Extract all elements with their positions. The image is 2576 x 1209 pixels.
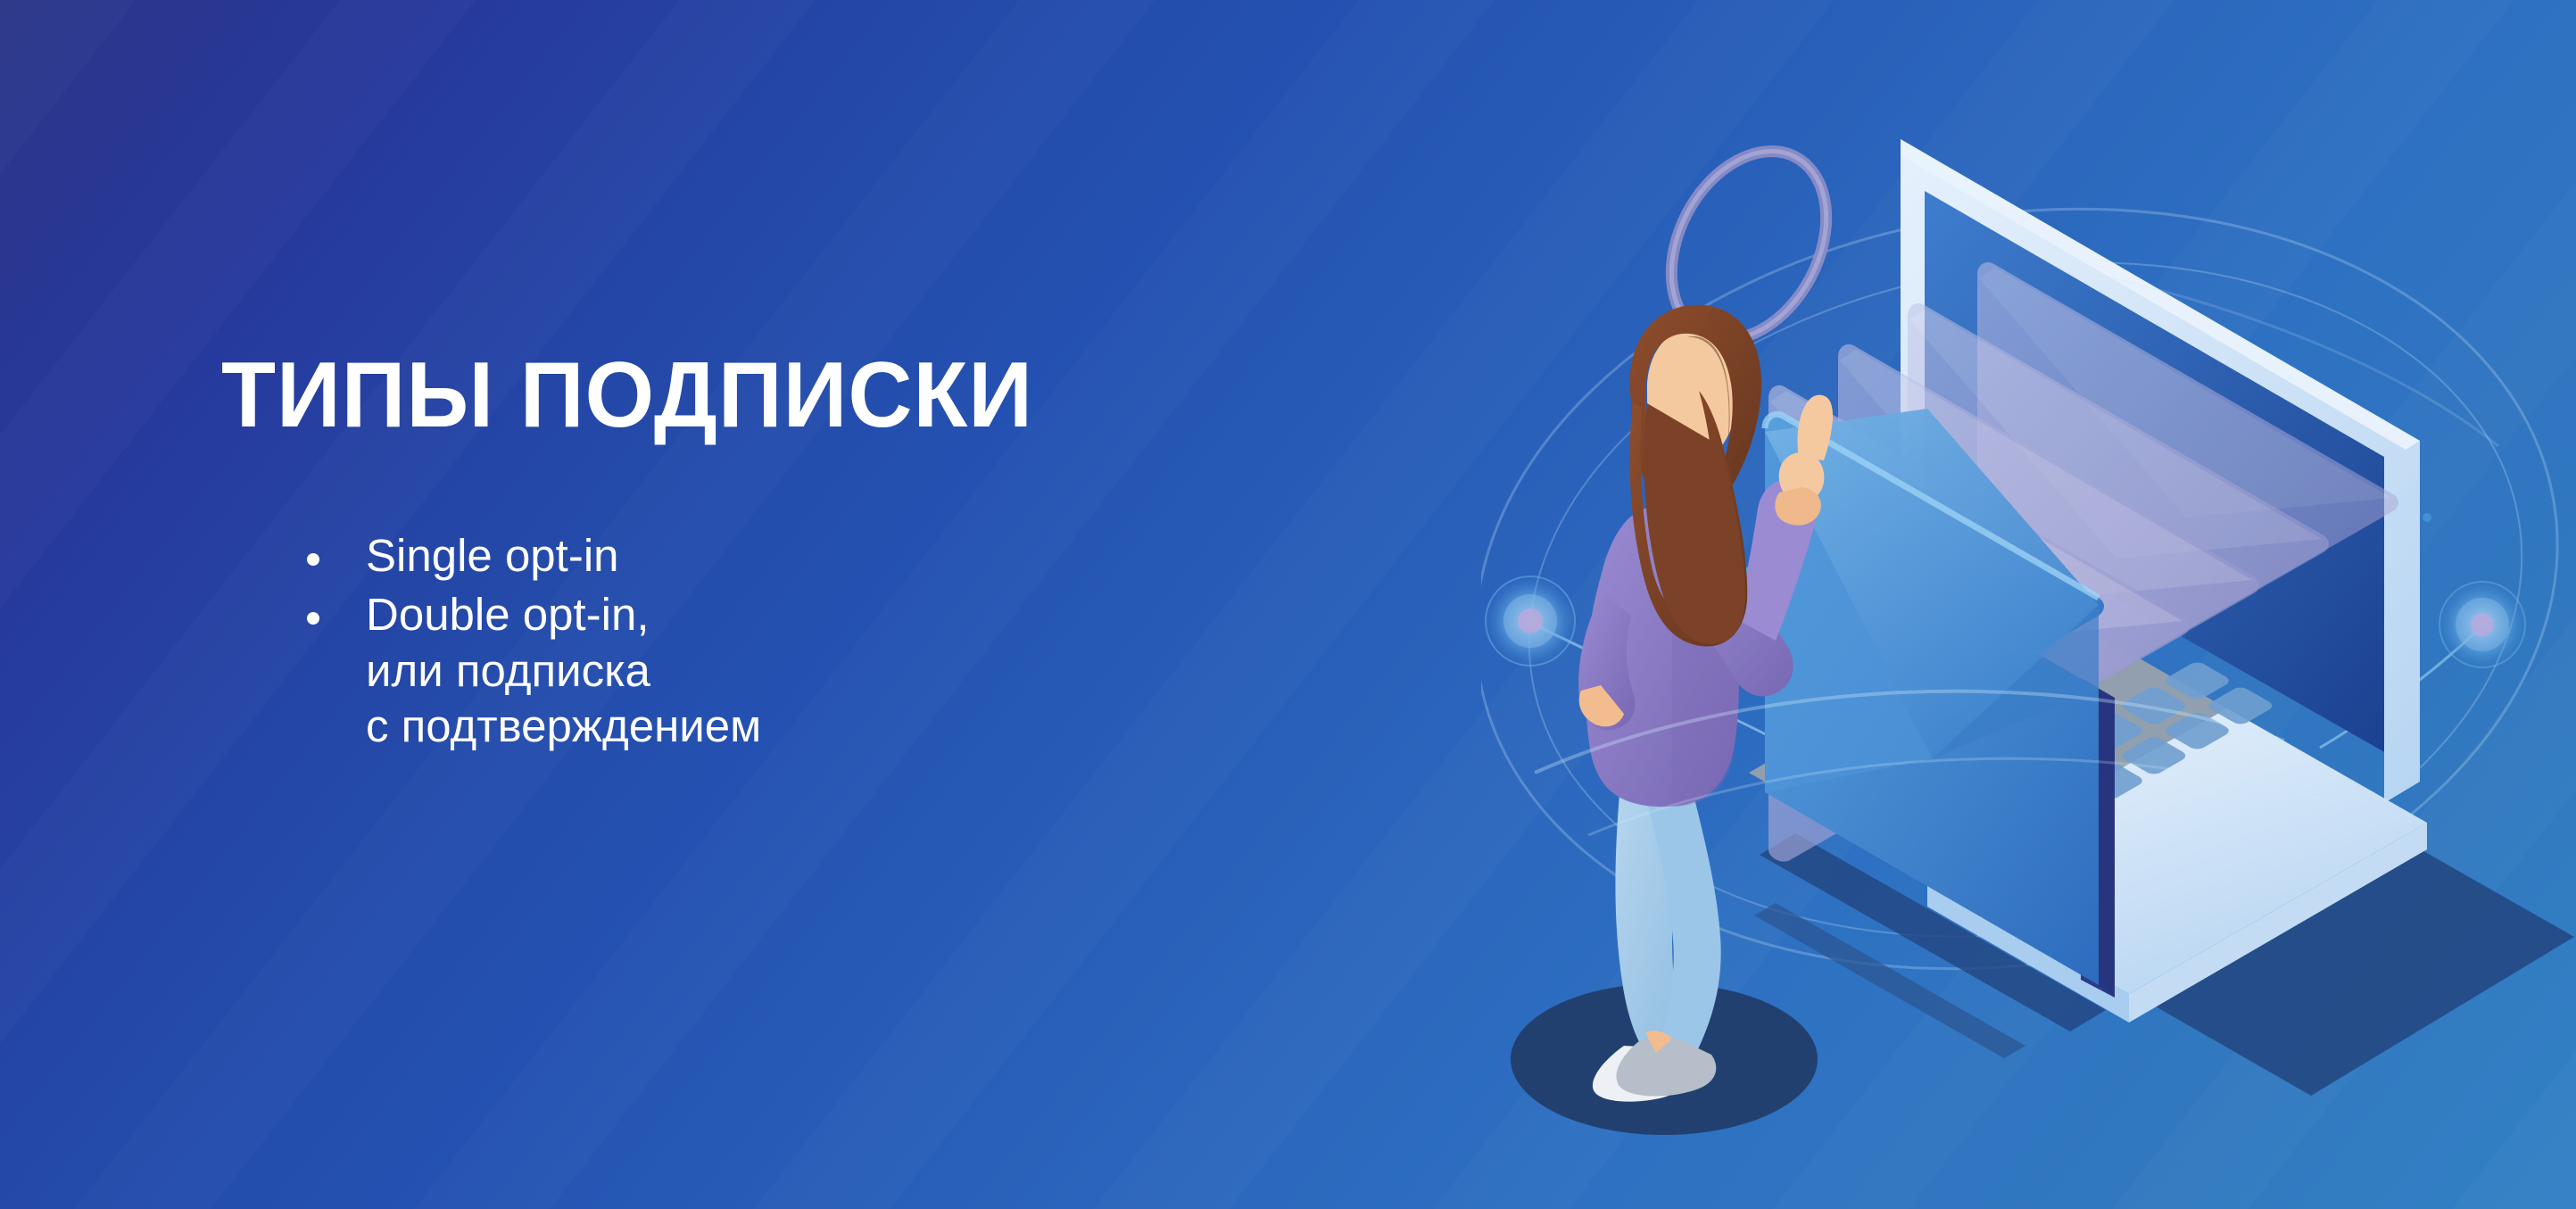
bullet-dot-icon bbox=[307, 553, 319, 566]
list-item-label: Double opt-in, или подписка с подтвержде… bbox=[366, 587, 761, 754]
illustration bbox=[1481, 54, 2576, 1209]
list-item: Double opt-in, или подписка с подтвержде… bbox=[221, 587, 1247, 754]
list-item: Single opt-in bbox=[221, 528, 1247, 584]
page-title: ТИПЫ ПОДПИСКИ bbox=[221, 348, 1206, 443]
subscription-types-banner: ТИПЫ ПОДПИСКИ Single opt-in Double opt-i… bbox=[0, 0, 2576, 1209]
list-item-label: Single opt-in bbox=[366, 528, 619, 584]
subscription-types-list: Single opt-in Double opt-in, или подписк… bbox=[221, 528, 1247, 754]
bullet-dot-icon bbox=[307, 612, 319, 625]
text-column: ТИПЫ ПОДПИСКИ Single opt-in Double opt-i… bbox=[221, 348, 1247, 758]
illustration-svg bbox=[1481, 54, 2576, 1209]
